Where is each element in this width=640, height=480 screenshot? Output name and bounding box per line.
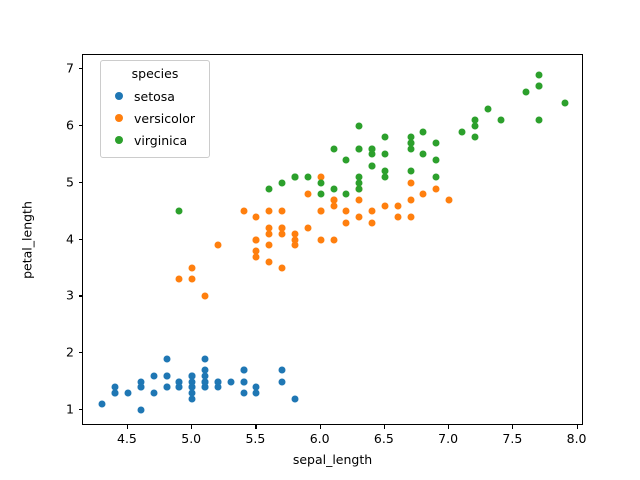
data-point	[343, 219, 350, 226]
data-point	[266, 259, 273, 266]
data-point	[407, 213, 414, 220]
data-point	[240, 208, 247, 215]
data-point	[304, 225, 311, 232]
data-point	[202, 293, 209, 300]
data-point	[124, 390, 131, 397]
data-point	[291, 395, 298, 402]
data-point	[317, 179, 324, 186]
data-point	[369, 208, 376, 215]
data-point	[356, 145, 363, 152]
data-point	[407, 168, 414, 175]
data-point	[240, 390, 247, 397]
data-point	[189, 384, 196, 391]
y-tick-mark	[79, 239, 83, 240]
data-point	[343, 208, 350, 215]
data-point	[253, 253, 260, 260]
legend-marker-icon	[115, 114, 123, 122]
data-point	[150, 373, 157, 380]
data-point	[356, 213, 363, 220]
data-point	[176, 276, 183, 283]
data-point	[279, 208, 286, 215]
data-point	[433, 140, 440, 147]
x-tick-mark	[320, 425, 321, 429]
legend-item-versicolor: versicolor	[108, 107, 202, 129]
legend: species setosaversicolorvirginica	[100, 60, 210, 158]
data-point	[304, 191, 311, 198]
legend-item-label: setosa	[134, 89, 175, 104]
x-axis-label: sepal_length	[293, 452, 372, 467]
x-tick-label: 6.5	[374, 431, 394, 446]
x-tick-mark	[255, 425, 256, 429]
legend-item-label: virginica	[134, 133, 187, 148]
data-point	[176, 208, 183, 215]
x-tick-mark	[384, 425, 385, 429]
data-point	[381, 168, 388, 175]
data-point	[369, 151, 376, 158]
data-point	[330, 236, 337, 243]
data-point	[394, 213, 401, 220]
data-point	[420, 151, 427, 158]
data-point	[369, 219, 376, 226]
data-point	[433, 157, 440, 164]
x-tick-label: 4.5	[117, 431, 137, 446]
data-point	[266, 242, 273, 249]
x-tick-label: 8.0	[567, 431, 587, 446]
data-point	[497, 117, 504, 124]
data-point	[214, 378, 221, 385]
data-point	[137, 384, 144, 391]
x-tick-label: 5.5	[245, 431, 265, 446]
x-tick-mark	[191, 425, 192, 429]
data-point	[163, 384, 170, 391]
data-point	[150, 390, 157, 397]
data-point	[279, 230, 286, 237]
y-tick-label: 7	[66, 61, 74, 76]
data-point	[381, 151, 388, 158]
data-point	[279, 179, 286, 186]
data-point	[163, 373, 170, 380]
y-tick-label: 3	[66, 288, 74, 303]
data-point	[266, 185, 273, 192]
data-point	[214, 242, 221, 249]
data-point	[253, 390, 260, 397]
y-axis-label: petal_length	[20, 201, 35, 279]
data-point	[202, 355, 209, 362]
data-point	[137, 407, 144, 414]
y-tick-label: 2	[66, 345, 74, 360]
y-tick-mark	[79, 295, 83, 296]
y-tick-mark	[79, 409, 83, 410]
data-point	[317, 236, 324, 243]
x-tick-label: 6.0	[310, 431, 330, 446]
y-tick-label: 4	[66, 231, 74, 246]
data-point	[227, 378, 234, 385]
data-point	[112, 390, 119, 397]
data-point	[381, 134, 388, 141]
data-point	[484, 105, 491, 112]
data-point	[240, 378, 247, 385]
data-point	[317, 208, 324, 215]
data-point	[291, 236, 298, 243]
data-point	[356, 196, 363, 203]
y-tick-mark	[79, 68, 83, 69]
data-point	[343, 191, 350, 198]
y-tick-label: 6	[66, 118, 74, 133]
legend-item-virginica: virginica	[108, 129, 202, 151]
data-point	[446, 196, 453, 203]
data-point	[330, 185, 337, 192]
data-point	[356, 123, 363, 130]
data-point	[330, 202, 337, 209]
legend-item-label: versicolor	[134, 111, 195, 126]
data-point	[407, 179, 414, 186]
data-point	[304, 174, 311, 181]
data-point	[407, 140, 414, 147]
y-tick-mark	[79, 352, 83, 353]
data-point	[523, 88, 530, 95]
data-point	[433, 185, 440, 192]
data-point	[99, 401, 106, 408]
data-point	[240, 367, 247, 374]
data-point	[202, 373, 209, 380]
data-point	[471, 123, 478, 130]
data-point	[253, 236, 260, 243]
data-point	[536, 117, 543, 124]
data-point	[176, 384, 183, 391]
data-point	[317, 191, 324, 198]
data-point	[458, 128, 465, 135]
data-point	[407, 196, 414, 203]
data-point	[420, 191, 427, 198]
data-point	[343, 157, 350, 164]
data-point	[369, 162, 376, 169]
legend-item-setosa: setosa	[108, 85, 202, 107]
data-point	[189, 276, 196, 283]
legend-marker-icon	[115, 92, 123, 100]
data-point	[163, 355, 170, 362]
x-tick-label: 7.0	[438, 431, 458, 446]
scatter-plot-figure: 4.55.05.56.06.57.07.58.01234567 sepal_le…	[0, 0, 640, 480]
y-tick-label: 5	[66, 174, 74, 189]
y-tick-label: 1	[66, 402, 74, 417]
legend-title: species	[108, 66, 202, 82]
data-point	[279, 367, 286, 374]
legend-marker-icon	[115, 136, 123, 144]
x-tick-label: 5.0	[181, 431, 201, 446]
data-point	[536, 83, 543, 90]
data-point	[536, 71, 543, 78]
x-tick-mark	[577, 425, 578, 429]
data-point	[266, 225, 273, 232]
data-point	[189, 373, 196, 380]
data-point	[330, 145, 337, 152]
data-point	[433, 174, 440, 181]
data-point	[291, 174, 298, 181]
x-tick-mark	[448, 425, 449, 429]
x-tick-mark	[127, 425, 128, 429]
data-point	[381, 202, 388, 209]
legend-entries: setosaversicolorvirginica	[108, 85, 202, 151]
data-point	[253, 213, 260, 220]
data-point	[266, 208, 273, 215]
data-point	[471, 134, 478, 141]
data-point	[279, 265, 286, 272]
data-point	[420, 128, 427, 135]
data-point	[356, 179, 363, 186]
x-tick-label: 7.5	[502, 431, 522, 446]
y-tick-mark	[79, 182, 83, 183]
x-tick-mark	[512, 425, 513, 429]
data-point	[394, 202, 401, 209]
data-point	[189, 265, 196, 272]
data-point	[561, 100, 568, 107]
data-point	[279, 378, 286, 385]
y-tick-mark	[79, 125, 83, 126]
